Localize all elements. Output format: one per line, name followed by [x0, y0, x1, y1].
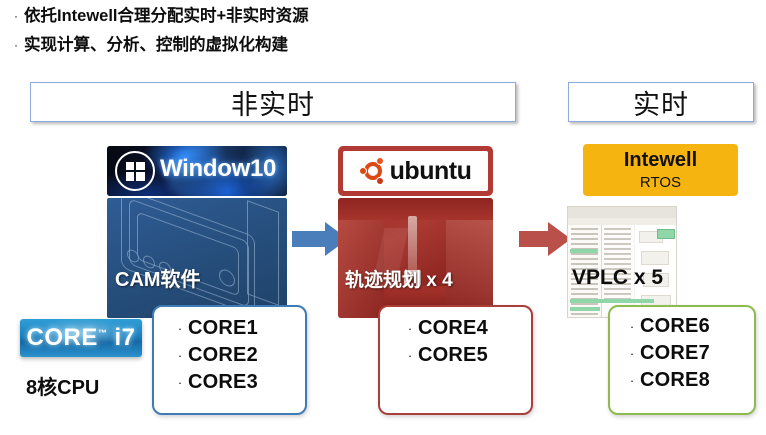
bullet-marker-icon: · — [624, 373, 640, 388]
core-label: CORE3 — [188, 371, 258, 394]
core-i7-badge: CORE™ i7 — [20, 319, 142, 357]
list-item: · CORE3 — [172, 371, 305, 394]
core-label: CORE5 — [418, 344, 488, 367]
trademark-icon: ™ — [98, 328, 108, 338]
bullet-list: · 依托Intewell合理分配实时+非实时资源 · 实现计算、分析、控制的虚拟… — [8, 4, 608, 62]
core-box-non-realtime-windows: · CORE1 · CORE2 · CORE3 — [152, 305, 307, 415]
core-label: CORE2 — [188, 344, 258, 367]
list-item: · CORE4 — [402, 317, 531, 340]
list-item: · CORE6 — [624, 315, 754, 338]
windows-logo-icon — [115, 151, 155, 191]
windows-os-banner: Window10 — [107, 146, 287, 196]
cam-software-panel: CAM软件 — [107, 198, 287, 318]
bullet-marker-icon: · — [8, 33, 24, 57]
cpu-caption: 8核CPU — [26, 371, 99, 400]
header-label-realtime: 实时 — [633, 83, 689, 122]
slide-canvas: · 依托Intewell合理分配实时+非实时资源 · 实现计算、分析、控制的虚拟… — [0, 0, 766, 435]
list-item: · CORE7 — [624, 342, 754, 365]
header-banner-realtime: 实时 — [568, 82, 754, 122]
bullet-text: 实现计算、分析、控制的虚拟化构建 — [24, 33, 288, 57]
core-box-non-realtime-ubuntu: · CORE4 · CORE5 — [378, 305, 533, 415]
bullet-marker-icon: · — [624, 319, 640, 334]
bullet-marker-icon: · — [624, 346, 640, 361]
screenshot-highlight — [570, 307, 600, 311]
bullet-text: 依托Intewell合理分配实时+非实时资源 — [24, 4, 309, 28]
bullet-marker-icon: · — [402, 321, 418, 336]
ubuntu-os-label: ubuntu — [390, 157, 472, 186]
intewell-label: Intewell — [624, 150, 697, 170]
list-item: · CORE8 — [624, 369, 754, 392]
header-label-non-realtime: 非实时 — [231, 83, 315, 122]
intewell-rtos-banner: Intewell RTOS — [583, 144, 738, 196]
screenshot-highlight — [570, 249, 598, 253]
rtos-label: RTOS — [640, 175, 681, 190]
vplc-screenshot-panel — [567, 206, 677, 318]
core-box-realtime-intewell: · CORE6 · CORE7 · CORE8 — [608, 305, 756, 415]
bullet-marker-icon: · — [172, 375, 188, 390]
screenshot-toolbar — [568, 218, 676, 225]
list-item: · 实现计算、分析、控制的虚拟化构建 — [8, 33, 608, 57]
ubuntu-os-banner: ubuntu — [338, 146, 493, 196]
ubuntu-logo-icon — [360, 158, 386, 184]
vplc-label: VPLC x 5 — [572, 266, 663, 290]
cam-software-label: CAM软件 — [115, 263, 201, 292]
bullet-marker-icon: · — [402, 348, 418, 363]
bullet-marker-icon: · — [8, 4, 24, 28]
core-i7-model-text: i7 — [115, 324, 136, 351]
bullet-marker-icon: · — [172, 348, 188, 363]
screenshot-highlight — [570, 299, 654, 303]
cad-blueprint-graphic — [107, 198, 287, 318]
core-label: CORE6 — [640, 315, 710, 338]
core-label: CORE8 — [640, 369, 710, 392]
core-label: CORE4 — [418, 317, 488, 340]
bullet-marker-icon: · — [172, 321, 188, 336]
trajectory-planning-label: 轨迹规划 x 4 — [345, 265, 453, 292]
core-label: CORE1 — [188, 317, 258, 340]
trajectory-planning-panel: 轨迹规划 x 4 — [338, 198, 493, 318]
list-item: · CORE5 — [402, 344, 531, 367]
list-item: · CORE1 — [172, 317, 305, 340]
core-i7-badge-text: CORE — [26, 324, 97, 351]
windows-os-label: Window10 — [160, 155, 276, 183]
header-banner-non-realtime: 非实时 — [30, 82, 516, 122]
core-label: CORE7 — [640, 342, 710, 365]
list-item: · CORE2 — [172, 344, 305, 367]
list-item: · 依托Intewell合理分配实时+非实时资源 — [8, 4, 608, 28]
arrow-ubuntu-to-intewell-icon — [519, 222, 571, 256]
